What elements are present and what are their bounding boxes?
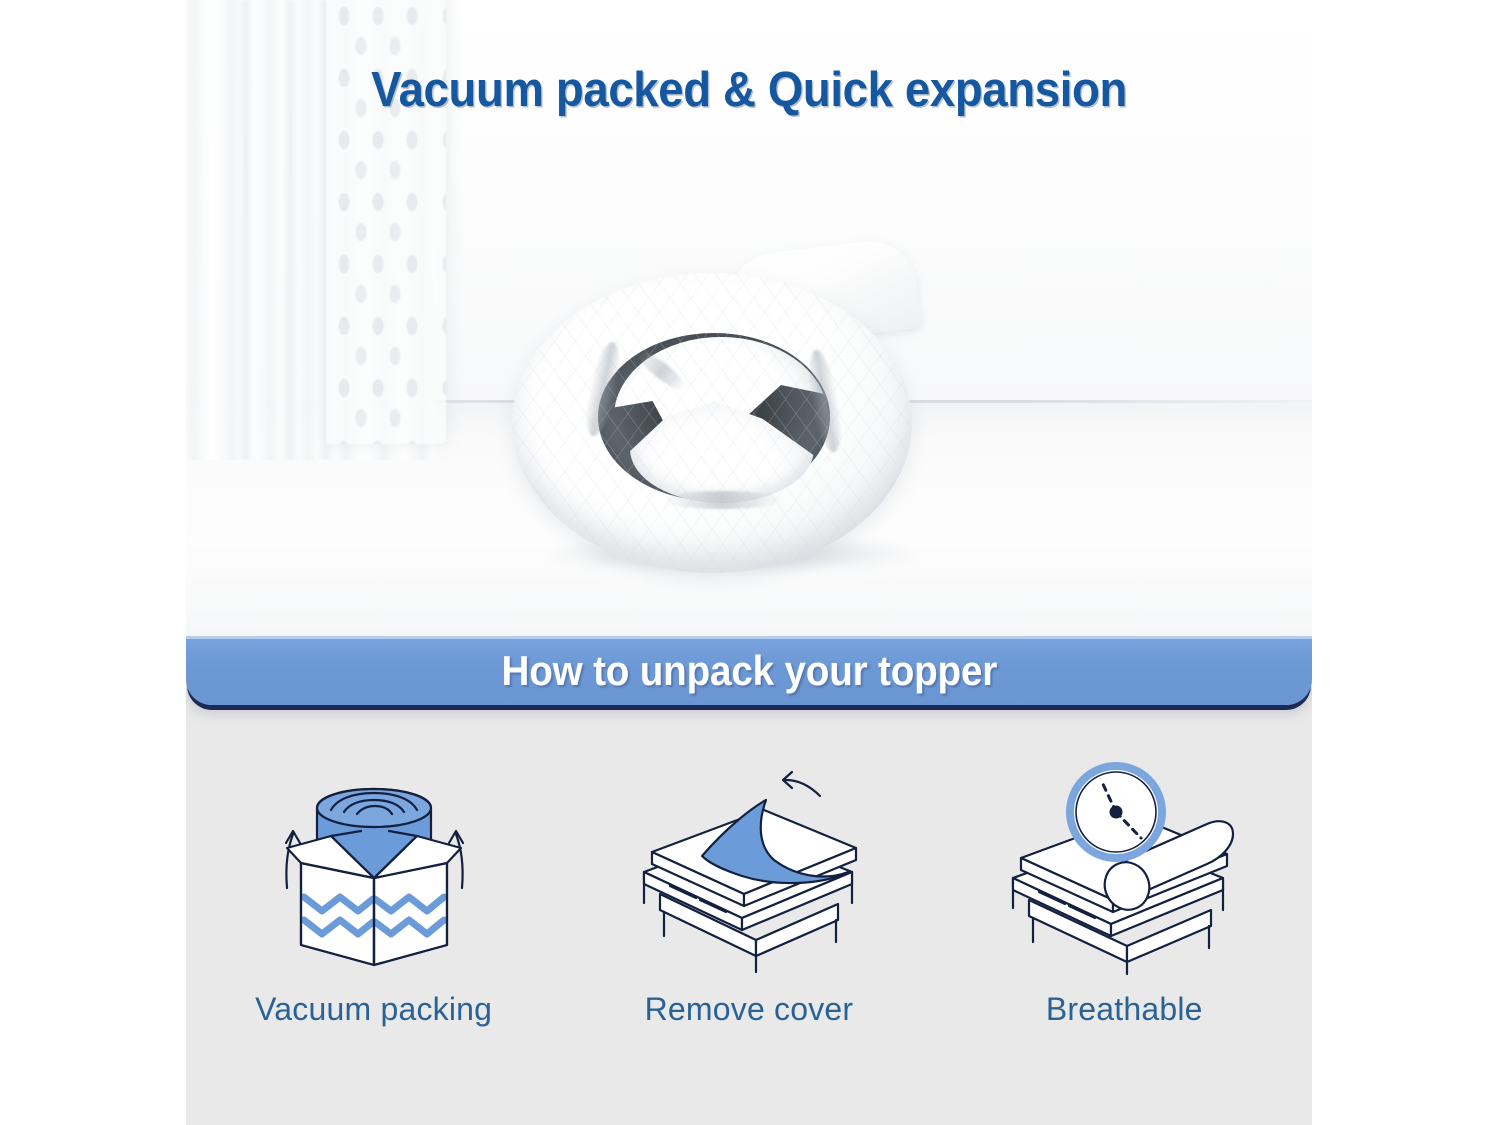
- section-banner: How to unpack your topper: [186, 636, 1312, 705]
- step-label: Vacuum packing: [255, 991, 492, 1028]
- section-banner-label: How to unpack your topper: [501, 647, 997, 695]
- rolled-topper: [512, 245, 932, 580]
- page-title: Vacuum packed & Quick expansion: [225, 62, 1272, 118]
- topper-crease: [662, 491, 782, 509]
- steps-row: Vacuum packing: [186, 760, 1312, 1028]
- step-label: Breathable: [1046, 991, 1203, 1028]
- step-label: Remove cover: [645, 991, 854, 1028]
- box-with-rolled-mattress-icon: [249, 760, 499, 975]
- content-block: Vacuum packed & Quick expansion How to u…: [186, 0, 1312, 1125]
- product-photo: Vacuum packed & Quick expansion: [186, 0, 1312, 637]
- step-breathable: Breathable: [937, 760, 1312, 1028]
- infographic-canvas: Vacuum packed & Quick expansion How to u…: [0, 0, 1500, 1125]
- step-remove-cover: Remove cover: [561, 760, 936, 1028]
- clock-over-unrolling-topper-icon: [999, 760, 1249, 975]
- peel-cover-off-bed-icon: [624, 760, 874, 975]
- step-vacuum-packing: Vacuum packing: [186, 760, 561, 1028]
